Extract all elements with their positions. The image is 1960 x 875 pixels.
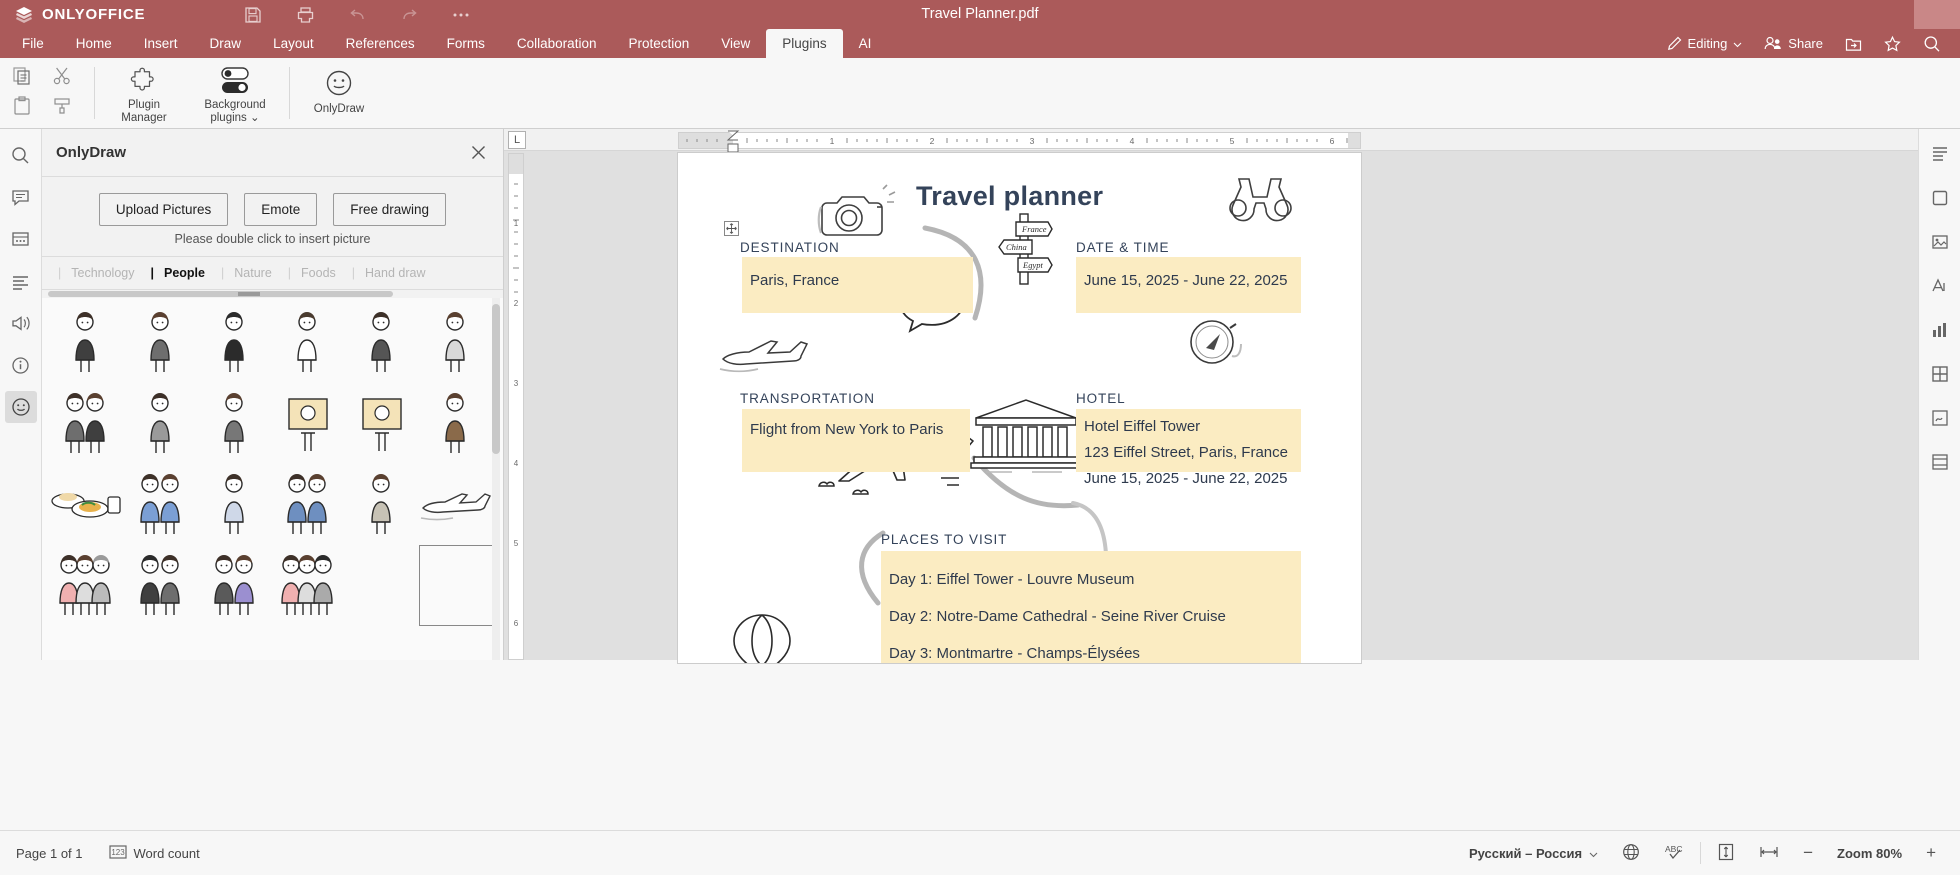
gallery-item[interactable] [48, 545, 124, 626]
gallery-item[interactable] [345, 464, 419, 545]
vruler-ticks: 123 456 [509, 154, 523, 659]
editing-label: Editing [1688, 36, 1728, 51]
date-time-textbox[interactable]: June 15, 2025 - June 22, 2025 [1076, 257, 1301, 313]
places-to-visit-textbox[interactable]: Day 1: Eiffel Tower - Louvre Museum Day … [881, 551, 1301, 663]
more-icon[interactable] [450, 4, 472, 26]
share-button[interactable]: Share [1753, 29, 1834, 58]
format-painter-icon[interactable] [52, 96, 72, 121]
language-label: Русский – Россия [1469, 846, 1582, 861]
hotel-line-2: 123 Eiffel Street, Paris, France [1076, 440, 1301, 466]
chart-settings-icon[interactable] [1925, 315, 1955, 345]
ribbon-divider [94, 67, 95, 119]
plugin-panel-header: OnlyDraw [42, 129, 503, 177]
print-icon[interactable] [294, 4, 316, 26]
page-indicator[interactable]: Page 1 of 1 [16, 846, 83, 861]
svg-text:3: 3 [1030, 136, 1035, 146]
zoom-out-button[interactable]: − [1791, 843, 1825, 863]
gallery-item[interactable] [345, 302, 419, 383]
gallery-item[interactable] [419, 302, 493, 383]
menu-tab-collaboration[interactable]: Collaboration [501, 29, 613, 58]
paragraph-settings-icon[interactable] [1925, 139, 1955, 169]
globe-icon [1622, 843, 1640, 864]
category-tabs: |Technology|People|Nature|Foods|Hand dra… [42, 256, 503, 290]
toggles-icon [214, 66, 256, 96]
svg-text:1: 1 [514, 219, 519, 228]
menu-tab-insert[interactable]: Insert [128, 29, 194, 58]
onlydraw-label: OnlyDraw [314, 103, 364, 116]
svg-text:3: 3 [514, 379, 519, 388]
svg-text:ABC: ABC [1665, 844, 1682, 854]
paragraph-marks-icon[interactable] [5, 265, 37, 297]
svg-text:123: 123 [111, 848, 125, 857]
svg-text:4: 4 [514, 459, 519, 468]
title-bar: ONLYOFFICE Travel Planner.pdf [0, 0, 1960, 29]
menu-tab-draw[interactable]: Draw [194, 29, 258, 58]
emote-button[interactable]: Emote [244, 193, 317, 226]
word-count-icon: 123 [109, 844, 127, 863]
destination-value: Paris, France [742, 257, 973, 294]
search-icon[interactable] [1912, 29, 1952, 58]
star-icon[interactable] [1873, 29, 1912, 58]
gallery-vscroll-thumb[interactable] [492, 304, 500, 454]
category-label: People [164, 266, 205, 280]
category-separator: | [135, 266, 165, 280]
save-icon[interactable] [242, 4, 264, 26]
svg-text:6: 6 [514, 619, 519, 628]
section-label-places: PLACES TO VISIT [881, 532, 1007, 547]
temple-icon [970, 396, 1082, 474]
fit-page-icon [1717, 843, 1735, 864]
free-drawing-button[interactable]: Free drawing [333, 193, 446, 226]
menu-tab-home[interactable]: Home [60, 29, 128, 58]
ribbon-divider-2 [289, 67, 290, 119]
gallery-item[interactable] [48, 464, 124, 545]
horizontal-ruler[interactable]: 123 456 [678, 132, 1361, 149]
category-nature[interactable]: |Nature [205, 266, 272, 280]
status-bar: Page 1 of 1 123 Word count Русский – Рос… [0, 830, 1960, 875]
category-separator: | [336, 266, 365, 280]
menu-tab-plugins[interactable]: Plugins [766, 29, 842, 58]
section-label-date-time: DATE & TIME [1076, 240, 1169, 255]
svg-text:6: 6 [1330, 136, 1335, 146]
menu-right-actions: Editing Share [1656, 29, 1952, 58]
gallery-item[interactable] [272, 464, 346, 545]
undo-icon[interactable] [346, 4, 368, 26]
svg-text:France: France [1021, 224, 1047, 234]
menu-tab-ai[interactable]: AI [843, 29, 888, 58]
tab-stop-selector[interactable]: L [508, 131, 526, 149]
puzzle-icon [129, 66, 159, 96]
brand: ONLYOFFICE [0, 5, 220, 25]
category-foods[interactable]: |Foods [272, 266, 336, 280]
status-right-group: Русский – Россия ABC − [1457, 842, 1948, 864]
category-separator: | [205, 266, 234, 280]
cut-icon[interactable] [52, 66, 72, 91]
category-hand-draw[interactable]: |Hand draw [336, 266, 426, 280]
transportation-value: Flight from New York to Paris [742, 409, 970, 443]
gallery-item [419, 545, 493, 626]
menu-tab-file[interactable]: File [6, 29, 60, 58]
text-art-settings-icon[interactable] [1925, 271, 1955, 301]
hotel-textbox[interactable]: Hotel Eiffel Tower 123 Eiffel Street, Pa… [1076, 409, 1301, 472]
gallery-hscroll-grip [238, 292, 260, 296]
left-icon-rail [0, 129, 42, 660]
menu-tab-layout[interactable]: Layout [257, 29, 330, 58]
brand-name: ONLYOFFICE [42, 6, 145, 23]
gallery-item[interactable] [198, 383, 272, 464]
svg-text:5: 5 [514, 539, 519, 548]
gallery-item[interactable] [419, 383, 493, 464]
gallery-item[interactable] [124, 464, 198, 545]
transportation-textbox[interactable]: Flight from New York to Paris [742, 409, 970, 472]
category-label: Nature [234, 266, 272, 280]
zoom-in-button[interactable]: + [1914, 843, 1948, 863]
section-label-hotel: HOTEL [1076, 391, 1126, 406]
zoom-in-icon: + [1926, 843, 1936, 863]
document-page[interactable]: Travel planner FranceChinaEgypt [678, 153, 1361, 663]
svg-text:2: 2 [930, 136, 935, 146]
gallery-item[interactable] [48, 383, 124, 464]
ruler-ticks: 123 456 [679, 133, 1360, 148]
copy-icon[interactable] [12, 66, 32, 91]
share-people-icon [1764, 36, 1782, 51]
gallery-item[interactable] [198, 545, 272, 626]
svg-text:1: 1 [830, 136, 835, 146]
plugin-panel-hint: Please double click to insert picture [42, 232, 503, 256]
chevron-down-icon [1589, 846, 1598, 861]
gallery-item [345, 545, 419, 626]
gallery-item[interactable] [272, 545, 346, 626]
plugin-panel-actions: Upload Pictures Emote Free drawing [42, 177, 503, 232]
zoom-out-icon: − [1803, 843, 1813, 863]
zoom-label: Zoom 80% [1837, 846, 1902, 861]
svg-text:2: 2 [514, 299, 519, 308]
svg-text:5: 5 [1230, 136, 1235, 146]
word-count-button[interactable]: 123 Word count [109, 844, 200, 863]
category-people[interactable]: |People [135, 266, 206, 280]
image-settings-icon[interactable] [1925, 227, 1955, 257]
window-maximize-button[interactable] [1914, 0, 1960, 29]
editing-mode-button[interactable]: Editing [1656, 29, 1754, 58]
zoom-value[interactable]: Zoom 80% [1825, 846, 1914, 861]
chevron-down-icon: ⌄ [250, 112, 260, 124]
hot-air-balloon-icon [726, 613, 798, 663]
background-plugins-label: Backgroundplugins ⌄ [204, 99, 265, 124]
about-icon[interactable] [5, 349, 37, 381]
upload-pictures-button[interactable]: Upload Pictures [99, 193, 228, 226]
set-document-language-button[interactable] [1610, 843, 1652, 864]
menu-tab-view[interactable]: View [705, 29, 766, 58]
compass-icon [1182, 316, 1246, 368]
gallery-item[interactable] [272, 302, 346, 383]
gallery-item[interactable] [345, 383, 419, 464]
share-label: Share [1788, 36, 1823, 51]
spellcheck-icon: ABC [1664, 843, 1684, 864]
plugin-manager-button[interactable]: PluginManager [101, 60, 187, 126]
places-day-3: Day 3: Montmartre - Champs-Élysées [881, 635, 1301, 663]
page-label: Page 1 of 1 [16, 846, 83, 861]
search-icon[interactable] [5, 139, 37, 171]
comments-icon[interactable] [5, 181, 37, 213]
table-settings-icon[interactable] [1925, 359, 1955, 389]
word-count-label: Word count [134, 846, 200, 861]
background-plugins-button[interactable]: Backgroundplugins ⌄ [187, 60, 283, 126]
plugin-panel: OnlyDraw Upload Pictures Emote Free draw… [42, 129, 504, 660]
status-left-group: Page 1 of 1 123 Word count [0, 844, 200, 863]
category-label: Foods [301, 266, 336, 280]
clipboard-group [0, 58, 88, 129]
gallery-item[interactable] [198, 302, 272, 383]
close-icon[interactable] [467, 142, 489, 164]
fit-width-icon [1759, 843, 1779, 864]
hotel-line-3: June 15, 2025 - June 22, 2025 [1076, 466, 1301, 492]
section-label-transportation: TRANSPORTATION [740, 391, 875, 406]
section-label-destination: DESTINATION [740, 240, 840, 255]
category-label: Technology [71, 266, 134, 280]
plugin-panel-title: OnlyDraw [56, 144, 467, 161]
gallery-item[interactable] [419, 464, 493, 545]
ribbon-toolbar: PluginManager Backgroundplugins ⌄ OnlyDr… [0, 58, 1960, 129]
paste-icon[interactable] [12, 96, 32, 121]
gallery-item[interactable] [124, 545, 198, 626]
gallery-item[interactable] [124, 302, 198, 383]
document-area: L 123 456 123 456 [504, 129, 1960, 660]
category-separator: | [42, 266, 71, 280]
redo-icon[interactable] [398, 4, 420, 26]
places-day-1: Day 1: Eiffel Tower - Louvre Museum [881, 551, 1301, 598]
airplane-outline-icon [718, 333, 828, 375]
hotel-line-1: Hotel Eiffel Tower [1076, 409, 1301, 440]
chevron-down-icon [1733, 36, 1742, 51]
date-time-value: June 15, 2025 - June 22, 2025 [1076, 257, 1301, 294]
quick-access-toolbar [242, 4, 472, 26]
gallery-item[interactable] [48, 302, 124, 383]
gallery [42, 298, 503, 660]
onlyoffice-logo-icon [14, 5, 34, 25]
spellcheck-button[interactable]: ABC [1652, 843, 1696, 864]
menu-tab-protection[interactable]: Protection [612, 29, 705, 58]
category-technology[interactable]: |Technology [42, 266, 135, 280]
smiley-icon [325, 66, 353, 100]
plugins-smiley-icon[interactable] [5, 391, 37, 423]
menu-tab-references[interactable]: References [330, 29, 431, 58]
right-icon-rail [1918, 129, 1960, 660]
destination-textbox[interactable]: Paris, France [742, 257, 973, 313]
indent-marker[interactable] [727, 130, 739, 153]
svg-text:4: 4 [1130, 136, 1135, 146]
open-file-location-button[interactable] [1834, 29, 1873, 58]
gallery-item[interactable] [198, 464, 272, 545]
headings-icon[interactable] [5, 223, 37, 255]
gallery-item[interactable] [272, 383, 346, 464]
svg-text:Egypt: Egypt [1022, 260, 1043, 270]
gallery-item[interactable] [124, 383, 198, 464]
plugin-manager-label: PluginManager [121, 99, 166, 124]
category-separator: | [272, 266, 301, 280]
signpost-icon: FranceChinaEgypt [996, 210, 1054, 288]
category-label: Hand draw [365, 266, 425, 280]
fit-page-button[interactable] [1705, 843, 1747, 864]
header-footer-settings-icon[interactable] [1925, 447, 1955, 477]
language-selector[interactable]: Русский – Россия [1457, 846, 1610, 861]
vertical-ruler[interactable]: 123 456 [508, 153, 524, 660]
menu-bar: FileHomeInsertDrawLayoutReferencesFormsC… [0, 29, 1960, 58]
gallery-horizontal-scrollbar[interactable] [42, 290, 503, 298]
window-minimize-button[interactable] [1868, 0, 1914, 29]
gallery-hscroll-thumb[interactable] [48, 291, 393, 297]
places-day-2: Day 2: Notre-Dame Cathedral - Seine Rive… [881, 598, 1301, 635]
onlydraw-button[interactable]: OnlyDraw [296, 60, 382, 126]
svg-text:China: China [1006, 242, 1027, 252]
menu-tab-forms[interactable]: Forms [431, 29, 501, 58]
shape-settings-icon[interactable] [1925, 183, 1955, 213]
feedback-icon[interactable] [5, 307, 37, 339]
pencil-icon [1667, 36, 1682, 51]
status-divider [1700, 842, 1701, 864]
signature-settings-icon[interactable] [1925, 403, 1955, 433]
window-controls[interactable] [1868, 0, 1960, 29]
fit-width-button[interactable] [1747, 843, 1791, 864]
